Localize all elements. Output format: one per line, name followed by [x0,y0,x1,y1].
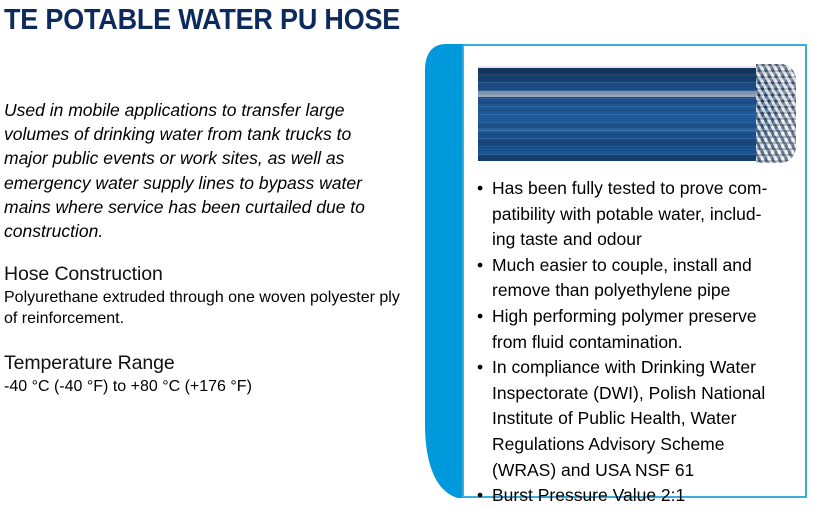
hose-body [478,66,760,161]
left-content-column: Used in mobile applications to transfer … [4,98,404,397]
feature-line: In compliance with Drinking Water [492,355,796,381]
section-body-temperature-range: -40 °C (-40 °F) to +80 °C (+176 °F) [4,376,404,397]
hose-product-image [478,66,793,161]
bullet-marker-icon: • [477,304,483,330]
section-heading-temperature-range: Temperature Range [4,351,404,375]
list-item: • Has been fully tested to prove com-pat… [476,176,796,253]
feature-line: Burst Pressure Value 2:1 [492,483,796,509]
list-item: • Much easier to couple, install andremo… [476,253,796,304]
page-title: TE POTABLE WATER PU HOSE [4,4,400,37]
section-heading-hose-construction: Hose Construction [4,262,404,286]
section-body-hose-construction: Polyurethane extruded through one woven … [4,287,404,329]
section-temperature-range: Temperature Range -40 °C (-40 °F) to +80… [4,351,404,397]
hose-woven-end [756,64,796,163]
feature-line: High performing polymer preserve [492,304,796,330]
list-item: • In compliance with Drinking WaterInspe… [476,355,796,483]
feature-line: Much easier to couple, install and [492,253,796,279]
feature-text-1: Much easier to couple, install andremove… [492,253,796,304]
intro-paragraph: Used in mobile applications to transfer … [4,98,387,243]
feature-line: remove than polyethylene pipe [492,278,796,304]
feature-line: patibility with potable water, includ- [492,202,796,228]
feature-line: Has been fully tested to prove com- [492,176,796,202]
list-item: • Burst Pressure Value 2:1 [476,483,796,509]
feature-line: Inspectorate (DWI), Polish National [492,381,796,407]
feature-bullet-list: • Has been fully tested to prove com-pat… [476,176,796,509]
feature-line: Institute of Public Health, Water [492,406,796,432]
bullet-marker-icon: • [477,253,483,279]
feature-text-2: High performing polymer preservefrom flu… [492,304,796,355]
feature-line: from fluid contamination. [492,330,796,356]
feature-text-4: Burst Pressure Value 2:1 [492,483,796,509]
feature-text-3: In compliance with Drinking WaterInspect… [492,355,796,483]
bullet-marker-icon: • [477,483,483,509]
feature-line: (WRAS) and USA NSF 61 [492,458,796,484]
bullet-marker-icon: • [477,355,483,381]
section-hose-construction: Hose Construction Polyurethane extruded … [4,262,404,329]
feature-line: ing taste and odour [492,227,796,253]
bullet-marker-icon: • [477,176,483,202]
feature-text-0: Has been fully tested to prove com-patib… [492,176,796,253]
product-panel-box: • Has been fully tested to prove com-pat… [462,44,807,498]
product-panel: • Has been fully tested to prove com-pat… [424,40,818,502]
list-item: • High performing polymer preservefrom f… [476,304,796,355]
feature-line: Regulations Advisory Scheme [492,432,796,458]
